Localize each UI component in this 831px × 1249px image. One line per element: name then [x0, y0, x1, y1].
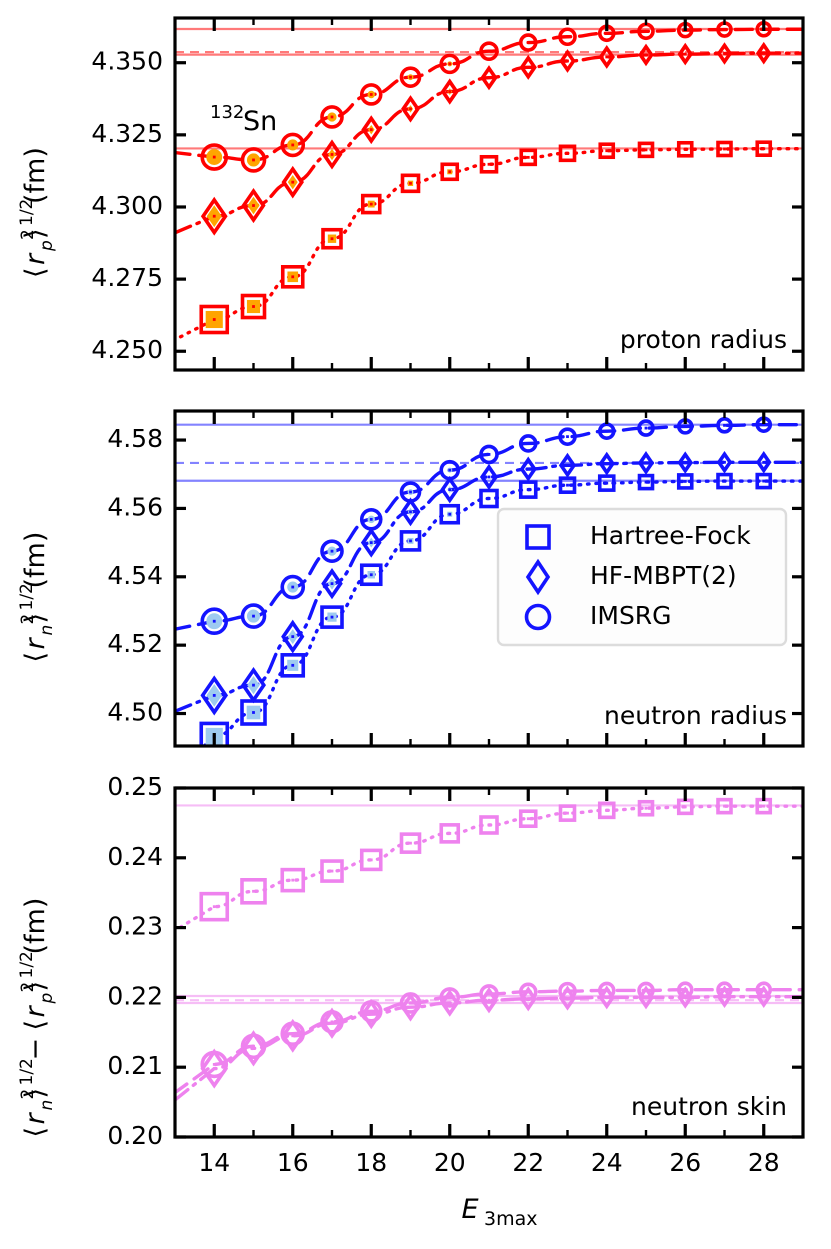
marker-center-dot — [252, 1045, 255, 1048]
multi-panel-plot: 4.2504.2754.3004.3254.350proton radius4.… — [0, 0, 831, 1249]
marker-center-dot — [527, 488, 530, 491]
x-tick-label: 16 — [277, 1148, 309, 1177]
legend: Hartree-FockHF-MBPT(2)IMSRG — [498, 509, 786, 645]
marker-center-dot — [252, 159, 255, 162]
marker-center-dot — [684, 425, 687, 428]
marker-center-dot — [645, 30, 648, 33]
y-tick-label: 0.23 — [107, 912, 163, 941]
nuclide-mass-number: 132 — [210, 102, 244, 123]
marker-center-dot — [213, 620, 216, 623]
marker-center-dot — [291, 275, 294, 278]
marker-center-dot — [331, 582, 334, 585]
marker-center-dot — [409, 107, 412, 110]
marker-center-dot — [684, 461, 687, 464]
marker-center-dot — [605, 482, 608, 485]
marker-center-dot — [684, 805, 687, 808]
y-tick-label: 4.350 — [91, 47, 163, 76]
y-axis-title-part: ⟩ — [20, 1088, 51, 1099]
datapoint — [242, 701, 265, 724]
marker-center-dot — [684, 148, 687, 151]
datapoint — [483, 68, 496, 87]
y-tick-label: 4.275 — [91, 263, 163, 292]
marker-center-dot — [409, 510, 412, 513]
datapoint — [242, 880, 265, 903]
x-tick-label: 14 — [198, 1148, 230, 1177]
y-axis-title-part: ⟨ — [20, 1020, 51, 1031]
series-line-hf-mbpt-2- — [173, 53, 805, 233]
marker-center-dot — [684, 53, 687, 56]
marker-center-dot — [370, 518, 373, 521]
marker-center-dot — [213, 318, 216, 321]
marker-center-dot — [213, 156, 216, 159]
marker-center-dot — [409, 491, 412, 494]
marker-center-dot — [448, 90, 451, 93]
marker-center-dot — [213, 1067, 216, 1070]
panel-top: 4.2504.2754.3004.3254.350proton radius — [91, 18, 805, 370]
legend-label: HF-MBPT(2) — [590, 561, 737, 590]
marker-center-dot — [488, 163, 491, 166]
marker-center-dot — [252, 684, 255, 687]
series-line-imsrg — [173, 29, 805, 160]
marker-center-dot — [291, 144, 294, 147]
y-axis-title-part: r — [20, 637, 51, 650]
marker-center-dot — [723, 988, 726, 991]
marker-center-dot — [213, 1063, 216, 1066]
y-tick-label: 4.52 — [107, 629, 163, 658]
marker-center-dot — [723, 480, 726, 483]
marker-center-dot — [370, 1010, 373, 1013]
y-tick-label: 4.58 — [107, 424, 163, 453]
y-tick-label: 0.22 — [107, 981, 163, 1010]
datapoint — [322, 607, 342, 627]
marker-center-dot — [252, 890, 255, 893]
nuclide-annotation: 132Sn — [210, 102, 277, 137]
marker-center-dot — [723, 461, 726, 464]
datapoint — [243, 296, 265, 318]
marker-center-dot — [684, 988, 687, 991]
y-axis-title-part: 1/2 — [17, 1058, 37, 1085]
marker-center-dot — [448, 469, 451, 472]
marker-center-dot — [527, 41, 530, 44]
datapoint — [680, 454, 691, 470]
marker-center-dot — [723, 805, 726, 808]
datapoint — [283, 267, 303, 287]
y-tick-label: 0.24 — [107, 842, 163, 871]
y-axis-title-part: p — [37, 993, 57, 1005]
marker-center-dot — [213, 905, 216, 908]
y-tick-label: 4.50 — [107, 698, 163, 727]
x-tick-label: 18 — [355, 1148, 387, 1177]
y-axis-title-part: r — [20, 1005, 51, 1018]
datapoint — [601, 48, 613, 66]
series-line-hartree-fock — [173, 149, 805, 341]
y-tick-label: 4.56 — [107, 492, 163, 521]
panel-note-bottom: neutron skin — [631, 1092, 787, 1121]
x-tick-label: 24 — [591, 1148, 623, 1177]
marker-center-dot — [291, 181, 294, 184]
marker-center-dot — [252, 711, 255, 714]
marker-center-dot — [605, 32, 608, 35]
marker-center-dot — [723, 148, 726, 151]
marker-center-dot — [762, 52, 765, 55]
marker-center-dot — [566, 152, 569, 155]
marker-center-dot — [291, 879, 294, 882]
marker-center-dot — [448, 832, 451, 835]
y-axis-title-part: (fm) — [20, 532, 51, 589]
y-axis-title-part: ⟩ — [20, 981, 51, 992]
marker-center-dot — [331, 116, 334, 119]
marker-center-dot — [213, 694, 216, 697]
datapoint — [282, 577, 303, 598]
marker-center-dot — [605, 56, 608, 59]
y-tick-label: 4.300 — [91, 191, 163, 220]
marker-center-dot — [566, 60, 569, 63]
marker-center-dot — [370, 541, 373, 544]
x-tick-label: 22 — [512, 1148, 544, 1177]
y-tick-label: 0.20 — [107, 1121, 163, 1150]
datapoint — [640, 47, 651, 63]
marker-center-dot — [527, 817, 530, 820]
y-axis-title-part: ⟩ — [20, 228, 51, 239]
marker-center-dot — [291, 635, 294, 638]
marker-center-dot — [527, 990, 530, 993]
nuclide-symbol: Sn — [243, 106, 277, 137]
marker-center-dot — [291, 586, 294, 589]
y-axis-title-part: n — [37, 1100, 57, 1111]
marker-center-dot — [488, 76, 491, 79]
marker-center-dot — [370, 1013, 373, 1016]
datapoint — [282, 655, 303, 676]
datapoint — [442, 164, 457, 179]
y-axis-title-part: r — [20, 1112, 51, 1125]
series-line-imsrg — [173, 990, 805, 1094]
datapoint — [284, 169, 302, 195]
marker-center-dot — [370, 128, 373, 131]
datapoint — [403, 175, 419, 191]
y-axis-title-proton: ⟨rp2⟩1/2 (fm) — [17, 147, 57, 278]
datapoint — [522, 58, 535, 77]
y-tick-label: 4.250 — [91, 335, 163, 364]
marker-center-dot — [605, 430, 608, 433]
marker-center-dot — [370, 573, 373, 576]
datapoint — [443, 82, 457, 102]
y-axis-title-part: r — [20, 252, 51, 265]
marker-center-dot — [645, 54, 648, 57]
marker-center-dot — [645, 989, 648, 992]
y-axis-title-skin: ⟨rn2⟩1/2−⟨rp2⟩1/2 (fm) — [17, 898, 57, 1138]
marker-center-dot — [527, 468, 530, 471]
marker-center-dot — [252, 204, 255, 207]
datapoint — [640, 454, 652, 472]
panel-content — [173, 23, 805, 341]
marker-center-dot — [448, 1002, 451, 1005]
marker-center-dot — [566, 812, 569, 815]
datapoint — [601, 455, 613, 473]
y-tick-label: 0.21 — [107, 1051, 163, 1080]
marker-center-dot — [370, 203, 373, 206]
x-axis-title-sub: 3max — [484, 1208, 537, 1230]
datapoint — [201, 307, 227, 333]
marker-center-dot — [723, 28, 726, 31]
marker-center-dot — [566, 990, 569, 993]
marker-center-dot — [331, 550, 334, 553]
y-axis-title-part: ⟨ — [20, 1127, 51, 1138]
marker-center-dot — [527, 156, 530, 159]
marker-center-dot — [409, 539, 412, 542]
marker-center-dot — [488, 453, 491, 456]
marker-center-dot — [331, 616, 334, 619]
legend-label: Hartree-Fock — [590, 521, 751, 550]
marker-center-dot — [723, 52, 726, 55]
figure-root: 4.2504.2754.3004.3254.350proton radius4.… — [0, 0, 831, 1249]
panel-note-middle: neutron radius — [604, 701, 787, 730]
marker-center-dot — [488, 824, 491, 827]
marker-center-dot — [409, 76, 412, 79]
marker-center-dot — [566, 484, 569, 487]
x-tick-label: 28 — [748, 1148, 780, 1177]
y-axis-title-neutron: ⟨rn2⟩1/2 (fm) — [17, 532, 57, 663]
datapoint — [201, 894, 227, 920]
datapoint — [719, 454, 730, 470]
marker-center-dot — [645, 481, 648, 484]
panel-note-top: proton radius — [620, 325, 787, 354]
marker-center-dot — [488, 497, 491, 500]
legend-label: IMSRG — [590, 601, 672, 630]
marker-center-dot — [370, 858, 373, 861]
datapoint — [758, 454, 769, 470]
marker-center-dot — [605, 809, 608, 812]
marker-center-dot — [762, 805, 765, 808]
marker-center-dot — [488, 993, 491, 996]
marker-center-dot — [448, 62, 451, 65]
panel-content — [173, 800, 805, 1102]
marker-center-dot — [566, 435, 569, 438]
x-tick-label: 26 — [669, 1148, 701, 1177]
marker-center-dot — [409, 1002, 412, 1005]
marker-center-dot — [605, 989, 608, 992]
y-axis-title-part: (fm) — [20, 147, 51, 204]
datapoint — [283, 623, 302, 651]
axes-frame — [175, 788, 803, 1137]
y-axis-title-part: ⟨ — [20, 267, 51, 278]
marker-center-dot — [762, 147, 765, 150]
datapoint — [679, 800, 692, 813]
marker-center-dot — [448, 513, 451, 516]
datapoint — [680, 46, 691, 62]
marker-center-dot — [762, 461, 765, 464]
marker-center-dot — [252, 615, 255, 618]
datapoint — [561, 456, 574, 475]
y-axis-title-part: − — [20, 1038, 51, 1061]
marker-center-dot — [762, 988, 765, 991]
datapoint — [282, 870, 303, 891]
marker-center-dot — [409, 182, 412, 185]
marker-center-dot — [566, 35, 569, 38]
marker-center-dot — [527, 442, 530, 445]
marker-center-dot — [488, 476, 491, 479]
marker-center-dot — [645, 427, 648, 430]
marker-center-dot — [291, 664, 294, 667]
marker-center-dot — [762, 480, 765, 483]
marker-center-dot — [291, 1032, 294, 1035]
marker-center-dot — [409, 1006, 412, 1009]
marker-center-dot — [252, 305, 255, 308]
datapoint — [600, 476, 614, 490]
y-axis-title-part: ⟩ — [20, 613, 51, 624]
y-axis-title-part: (fm) — [20, 898, 51, 955]
x-axis-title-main: E — [461, 1194, 478, 1225]
marker-center-dot — [448, 170, 451, 173]
marker-center-dot — [213, 215, 216, 218]
marker-center-dot — [605, 149, 608, 152]
y-tick-label: 4.325 — [91, 119, 163, 148]
y-axis-title-part: ⟨ — [20, 652, 51, 663]
datapoint — [482, 467, 496, 487]
x-axis-title: E3max — [461, 1194, 537, 1230]
marker-center-dot — [331, 153, 334, 156]
marker-center-dot — [605, 462, 608, 465]
y-tick-label: 4.54 — [107, 561, 163, 590]
marker-center-dot — [645, 148, 648, 151]
marker-center-dot — [684, 480, 687, 483]
panel-bottom: 0.200.210.220.230.240.25neutron skin — [107, 772, 805, 1150]
datapoint — [758, 45, 769, 61]
datapoint — [719, 45, 730, 61]
datapoint — [481, 491, 497, 507]
marker-center-dot — [566, 464, 569, 467]
y-axis-title-part: n — [37, 625, 57, 636]
marker-center-dot — [448, 488, 451, 491]
marker-center-dot — [645, 807, 648, 810]
marker-center-dot — [331, 870, 334, 873]
marker-center-dot — [488, 50, 491, 53]
marker-center-dot — [448, 996, 451, 999]
marker-center-dot — [331, 237, 334, 240]
y-tick-label: 0.25 — [107, 772, 163, 801]
datapoint — [441, 506, 458, 523]
x-tick-label: 20 — [434, 1148, 466, 1177]
marker-center-dot — [370, 93, 373, 96]
marker-center-dot — [331, 1020, 334, 1023]
marker-center-dot — [645, 462, 648, 465]
marker-center-dot — [723, 424, 726, 427]
y-axis-title-part: p — [37, 240, 57, 252]
marker-center-dot — [409, 842, 412, 845]
marker-center-dot — [527, 66, 530, 69]
